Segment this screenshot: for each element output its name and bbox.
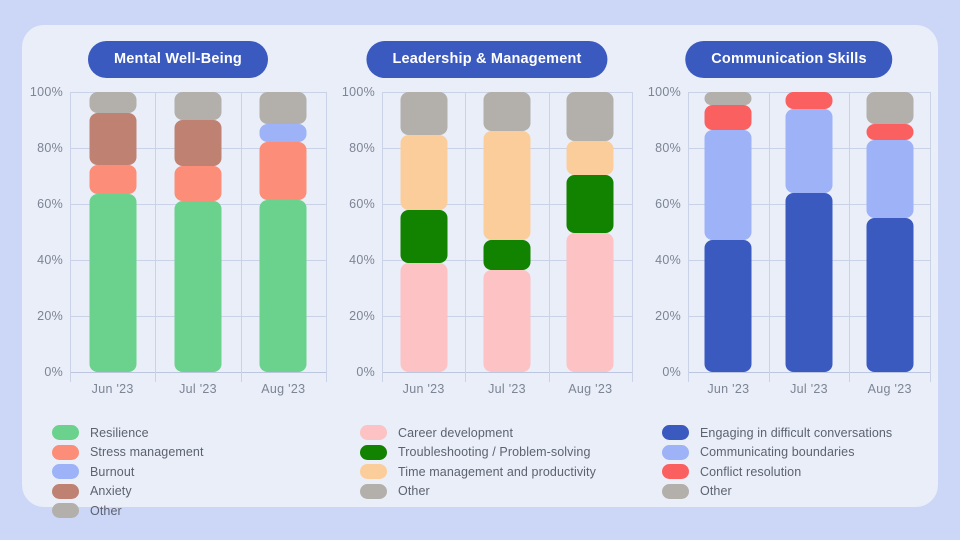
legend-item[interactable]: Troubleshooting / Problem-solving (360, 443, 634, 463)
bar-group: Aug '23 (241, 92, 326, 372)
legend-swatch (662, 464, 689, 479)
stacked-bar[interactable] (260, 92, 307, 372)
y-axis-tick-label: 80% (655, 141, 681, 155)
axis-area: 0%20%40%60%80%100%Jun '23Jul '23Aug '23 (688, 92, 930, 372)
legend-swatch (52, 484, 79, 499)
stacked-bar[interactable] (400, 92, 447, 372)
bar-group: Jul '23 (769, 92, 850, 372)
legend-swatch (52, 445, 79, 460)
axis-separator (632, 92, 633, 382)
bar-segment[interactable] (483, 131, 530, 240)
bar-segment[interactable] (705, 105, 752, 130)
chart-panels: Mental Well-Being 0%20%40%60%80%100%Jun … (22, 25, 938, 507)
gridline (70, 372, 326, 373)
x-axis-tick-label: Aug '23 (868, 382, 912, 396)
legend-item-label: Conflict resolution (700, 465, 801, 479)
legend-item-label: Time management and productivity (398, 465, 596, 479)
bar-segment[interactable] (89, 113, 136, 165)
legend-item-label: Other (700, 484, 732, 498)
plot-leadership-management: 0%20%40%60%80%100%Jun '23Jul '23Aug '23 (334, 87, 640, 407)
legend-item-label: Communicating boundaries (700, 445, 855, 459)
bar-group: Aug '23 (849, 92, 930, 372)
bar-segment[interactable] (705, 240, 752, 372)
bar-segment[interactable] (260, 92, 307, 124)
axis-separator (930, 92, 931, 382)
legend-item-label: Resilience (90, 426, 149, 440)
bar-segment[interactable] (785, 109, 832, 193)
bar-segment[interactable] (400, 135, 447, 209)
bar-segment[interactable] (174, 201, 221, 372)
legend-item-label: Stress management (90, 445, 204, 459)
bar-segment[interactable] (174, 166, 221, 201)
y-axis-tick-label: 0% (44, 365, 63, 379)
bar-segment[interactable] (400, 210, 447, 263)
legend-swatch (360, 425, 387, 440)
y-axis-tick-label: 80% (37, 141, 63, 155)
legend-item-label: Engaging in difficult conversations (700, 426, 892, 440)
x-axis-tick-label: Jun '23 (707, 382, 749, 396)
legend-swatch (662, 484, 689, 499)
legend-swatch (52, 464, 79, 479)
y-axis-tick-label: 60% (37, 197, 63, 211)
gridline (688, 372, 930, 373)
bar-segment[interactable] (260, 200, 307, 372)
stacked-bar[interactable] (89, 92, 136, 372)
bar-group: Aug '23 (549, 92, 632, 372)
y-axis-tick-label: 100% (30, 85, 63, 99)
legend-communication-skills: Engaging in difficult conversationsCommu… (662, 423, 932, 501)
bar-group: Jun '23 (70, 92, 155, 372)
legend-item[interactable]: Communicating boundaries (662, 443, 932, 463)
x-axis-tick-label: Jun '23 (403, 382, 445, 396)
chart-title-leadership-management: Leadership & Management (366, 41, 607, 78)
bar-segment[interactable] (483, 270, 530, 372)
legend-swatch (52, 503, 79, 518)
legend-item[interactable]: Career development (360, 423, 634, 443)
x-axis-tick-label: Jul '23 (488, 382, 526, 396)
legend-item[interactable]: Anxiety (52, 482, 328, 502)
axis-separator (326, 92, 327, 382)
y-axis-tick-label: 60% (655, 197, 681, 211)
bar-segment[interactable] (567, 233, 614, 372)
dashboard-card: Mental Well-Being 0%20%40%60%80%100%Jun … (22, 25, 938, 507)
chart-panel-leadership-management: Leadership & Management 0%20%40%60%80%10… (334, 25, 640, 507)
bar-segment[interactable] (705, 92, 752, 105)
y-axis-tick-label: 80% (349, 141, 375, 155)
legend-item[interactable]: Stress management (52, 443, 328, 463)
legend-item-label: Other (398, 484, 430, 498)
axis-area: 0%20%40%60%80%100%Jun '23Jul '23Aug '23 (70, 92, 326, 372)
bar-group: Jun '23 (382, 92, 465, 372)
bar-segment[interactable] (866, 124, 913, 139)
bar-segment[interactable] (483, 240, 530, 269)
y-axis-tick-label: 40% (655, 253, 681, 267)
stacked-bar[interactable] (866, 92, 913, 372)
bar-segment[interactable] (866, 218, 913, 372)
legend-item-label: Career development (398, 426, 513, 440)
bar-segment[interactable] (705, 130, 752, 241)
bar-segment[interactable] (866, 140, 913, 218)
chart-panel-mental-well-being: Mental Well-Being 0%20%40%60%80%100%Jun … (22, 25, 334, 507)
y-axis-tick-label: 20% (655, 309, 681, 323)
bar-segment[interactable] (174, 92, 221, 120)
legend-item[interactable]: Other (662, 482, 932, 502)
bar-segment[interactable] (260, 142, 307, 199)
bar-segment[interactable] (174, 120, 221, 166)
chart-panel-communication-skills: Communication Skills 0%20%40%60%80%100%J… (640, 25, 938, 507)
stacked-bar[interactable] (174, 92, 221, 372)
bar-segment[interactable] (400, 263, 447, 372)
bar-segment[interactable] (567, 92, 614, 141)
legend-item[interactable]: Other (360, 482, 634, 502)
stacked-bar[interactable] (567, 92, 614, 372)
legend-item[interactable]: Time management and productivity (360, 462, 634, 482)
legend-item-label: Troubleshooting / Problem-solving (398, 445, 591, 459)
legend-item-label: Burnout (90, 465, 134, 479)
x-axis-tick-label: Jun '23 (92, 382, 134, 396)
y-axis-tick-label: 100% (342, 85, 375, 99)
legend-swatch (360, 484, 387, 499)
legend-swatch (360, 464, 387, 479)
bar-segment[interactable] (89, 165, 136, 194)
axis-area: 0%20%40%60%80%100%Jun '23Jul '23Aug '23 (382, 92, 632, 372)
bar-group: Jul '23 (465, 92, 548, 372)
legend-swatch (360, 445, 387, 460)
y-axis-tick-label: 20% (349, 309, 375, 323)
gridline (382, 372, 632, 373)
legend-item[interactable]: Other (52, 501, 328, 521)
y-axis-tick-label: 40% (349, 253, 375, 267)
bar-group: Jun '23 (688, 92, 769, 372)
y-axis-tick-label: 100% (648, 85, 681, 99)
x-axis-tick-label: Jul '23 (790, 382, 828, 396)
y-axis-tick-label: 0% (662, 365, 681, 379)
bar-segment[interactable] (483, 92, 530, 131)
legend-item[interactable]: Burnout (52, 462, 328, 482)
bar-segment[interactable] (400, 92, 447, 135)
bars-container: Jun '23Jul '23Aug '23 (688, 92, 930, 372)
legend-item-label: Other (90, 504, 122, 518)
bars-container: Jun '23Jul '23Aug '23 (382, 92, 632, 372)
plot-communication-skills: 0%20%40%60%80%100%Jun '23Jul '23Aug '23 (640, 87, 938, 407)
bar-segment[interactable] (785, 193, 832, 372)
bar-segment[interactable] (866, 92, 913, 124)
bar-segment[interactable] (89, 194, 136, 372)
y-axis-tick-label: 40% (37, 253, 63, 267)
legend-item-label: Anxiety (90, 484, 132, 498)
y-axis-tick-label: 0% (356, 365, 375, 379)
bars-container: Jun '23Jul '23Aug '23 (70, 92, 326, 372)
bar-segment[interactable] (567, 175, 614, 234)
legend-swatch (662, 445, 689, 460)
bar-segment[interactable] (260, 124, 307, 142)
chart-title-mental-well-being: Mental Well-Being (88, 41, 268, 78)
legend-swatch (52, 425, 79, 440)
chart-title-communication-skills: Communication Skills (685, 41, 892, 78)
legend-mental-well-being: ResilienceStress managementBurnoutAnxiet… (52, 423, 328, 521)
legend-item[interactable]: Engaging in difficult conversations (662, 423, 932, 443)
stacked-bar[interactable] (483, 92, 530, 372)
x-axis-tick-label: Aug '23 (568, 382, 612, 396)
stacked-bar[interactable] (705, 92, 752, 372)
y-axis-tick-label: 20% (37, 309, 63, 323)
legend-item[interactable]: Resilience (52, 423, 328, 443)
bar-group: Jul '23 (155, 92, 240, 372)
bar-segment[interactable] (89, 92, 136, 113)
legend-item[interactable]: Conflict resolution (662, 462, 932, 482)
x-axis-tick-label: Aug '23 (261, 382, 305, 396)
legend-leadership-management: Career developmentTroubleshooting / Prob… (360, 423, 634, 501)
legend-swatch (662, 425, 689, 440)
x-axis-tick-label: Jul '23 (179, 382, 217, 396)
bar-segment[interactable] (785, 92, 832, 109)
bar-segment[interactable] (567, 141, 614, 175)
stacked-bar[interactable] (785, 92, 832, 372)
y-axis-tick-label: 60% (349, 197, 375, 211)
plot-mental-well-being: 0%20%40%60%80%100%Jun '23Jul '23Aug '23 (22, 87, 334, 407)
